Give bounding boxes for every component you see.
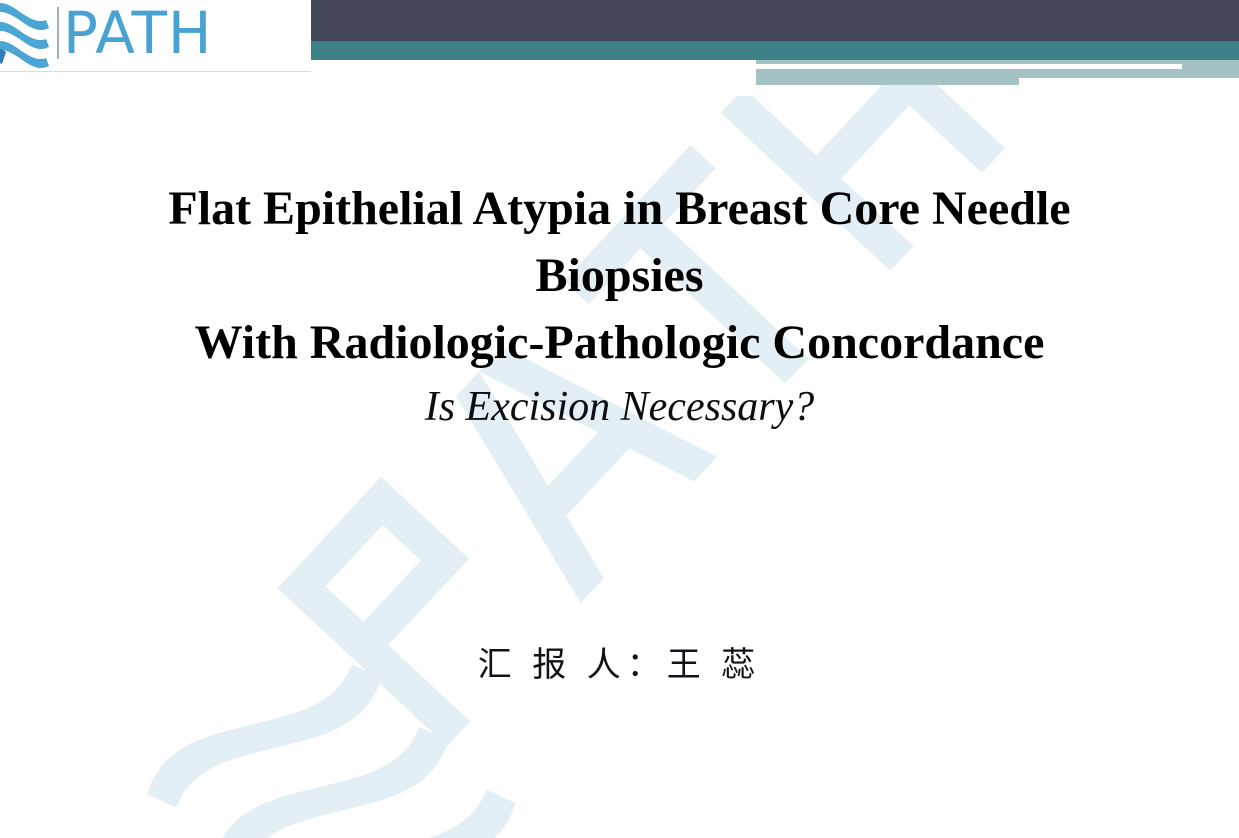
title-block: Flat Epithelial Atypia in Breast Core Ne…: [60, 175, 1179, 438]
presenter-line: 汇 报 人：王 蕊: [60, 637, 1179, 686]
logo-wordmark: PATH: [63, 1, 212, 65]
presentation-slide: PATH Flat Epithelial Atypia in Breast Co…: [0, 0, 1239, 838]
title-line-3: With Radiologic-Pathologic Concordance: [60, 309, 1179, 376]
slide-content: Flat Epithelial Atypia in Breast Core Ne…: [0, 0, 1239, 838]
logo-divider: [57, 7, 59, 59]
title-line-1: Flat Epithelial Atypia in Breast Core Ne…: [60, 175, 1179, 242]
title-line-2: Biopsies: [60, 242, 1179, 309]
dna-helix-icon: [0, 2, 58, 68]
brand-logo: PATH: [0, 0, 311, 72]
subtitle: Is Excision Necessary?: [60, 376, 1179, 438]
logo-underline: [0, 71, 311, 72]
